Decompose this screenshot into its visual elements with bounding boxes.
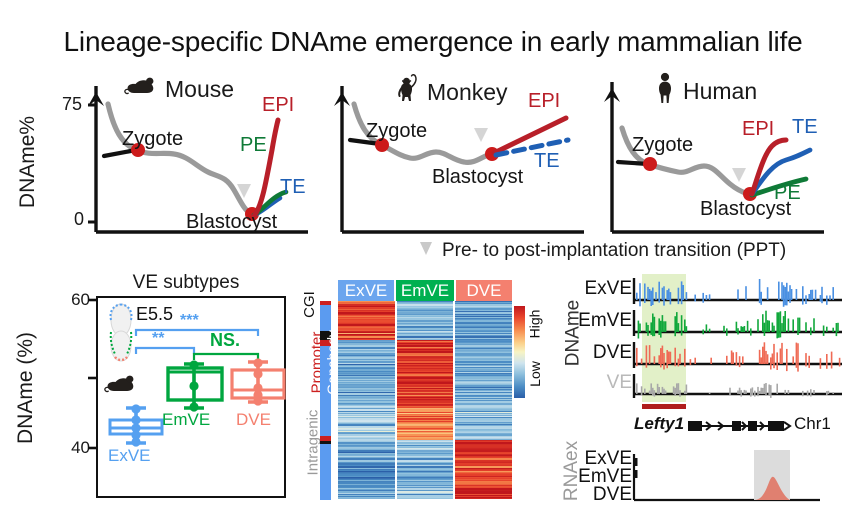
lineage-label-pe: PE — [240, 134, 267, 157]
label-blastocyst: Blastocyst — [432, 166, 523, 189]
label-zygote: Zygote — [366, 120, 427, 143]
ppt-legend-text: Pre- to post-implantation transition (PP… — [442, 240, 786, 262]
trajectory-panel-human: Human Zygote Blastocyst EPI TE PE — [596, 72, 864, 240]
lineage-label-epi: EPI — [528, 90, 560, 113]
label-blastocyst: Blastocyst — [186, 211, 277, 234]
gene-name-label: Lefty1 — [634, 414, 684, 434]
lineage-label-te: TE — [280, 176, 306, 199]
group-label-emve: EmVE — [162, 410, 210, 430]
significance-exve-emve: ** — [152, 330, 164, 348]
heatmap-column-header-dve: DVE — [456, 280, 512, 301]
heatmap-column-header-emve: EmVE — [396, 280, 454, 301]
lineage-label-te: TE — [792, 116, 818, 139]
rnaex-track-label-dve: DVE — [564, 484, 632, 506]
page-title: Lineage-specific DNAme emergence in earl… — [0, 26, 866, 58]
heatmap-column-exve — [338, 301, 395, 500]
heatmap-column-header-exve: ExVE — [338, 280, 394, 301]
heatmap-column-dve — [455, 301, 512, 500]
genome-browser-panel: DNAme RNAex ExVE EmVE DVE VE — [556, 272, 864, 508]
heatmap-colorbar — [514, 306, 525, 398]
lineage-label-te: TE — [534, 150, 560, 173]
heatmap-panel: ExVE EmVE DVE CGI Promoter Intragenic Ge… — [298, 270, 548, 508]
heatmap-body — [338, 301, 512, 500]
label-zygote: Zygote — [122, 128, 183, 151]
triangle-up-icon — [418, 239, 434, 263]
lineage-label-epi: EPI — [262, 94, 294, 117]
ppt-legend: Pre- to post-implantation transition (PP… — [418, 239, 786, 263]
colorbar-label-low: Low — [527, 361, 543, 387]
group-label-exve: ExVE — [108, 446, 151, 466]
label-zygote: Zygote — [632, 134, 693, 157]
significance-emve-dve: NS. — [210, 330, 240, 351]
lineage-label-epi: EPI — [742, 118, 774, 141]
row-annotation-cgi: CGI — [301, 291, 318, 318]
trajectory-panel-mouse: Mouse DNAme% 75 0 Zygote Blastocyst EPI … — [18, 72, 318, 240]
lineage-label-pe: PE — [774, 182, 801, 205]
row-annotation-intragenic: Intragenic — [304, 410, 321, 476]
significance-exve-dve: *** — [180, 312, 199, 330]
boxplot-boxes — [8, 268, 290, 508]
colorbar-label-high: High — [526, 310, 542, 339]
gene-region-bar — [642, 404, 686, 409]
chromosome-label: Chr1 — [794, 414, 831, 434]
boxplot-panel: VE subtypes DNAme (%) 60 40 E5.5 — [8, 268, 290, 508]
heatmap-column-emve — [397, 301, 454, 500]
group-label-dve: DVE — [236, 410, 271, 430]
trajectory-panel-monkey: Monkey Zygote Blastocyst EPI TE — [322, 72, 594, 240]
